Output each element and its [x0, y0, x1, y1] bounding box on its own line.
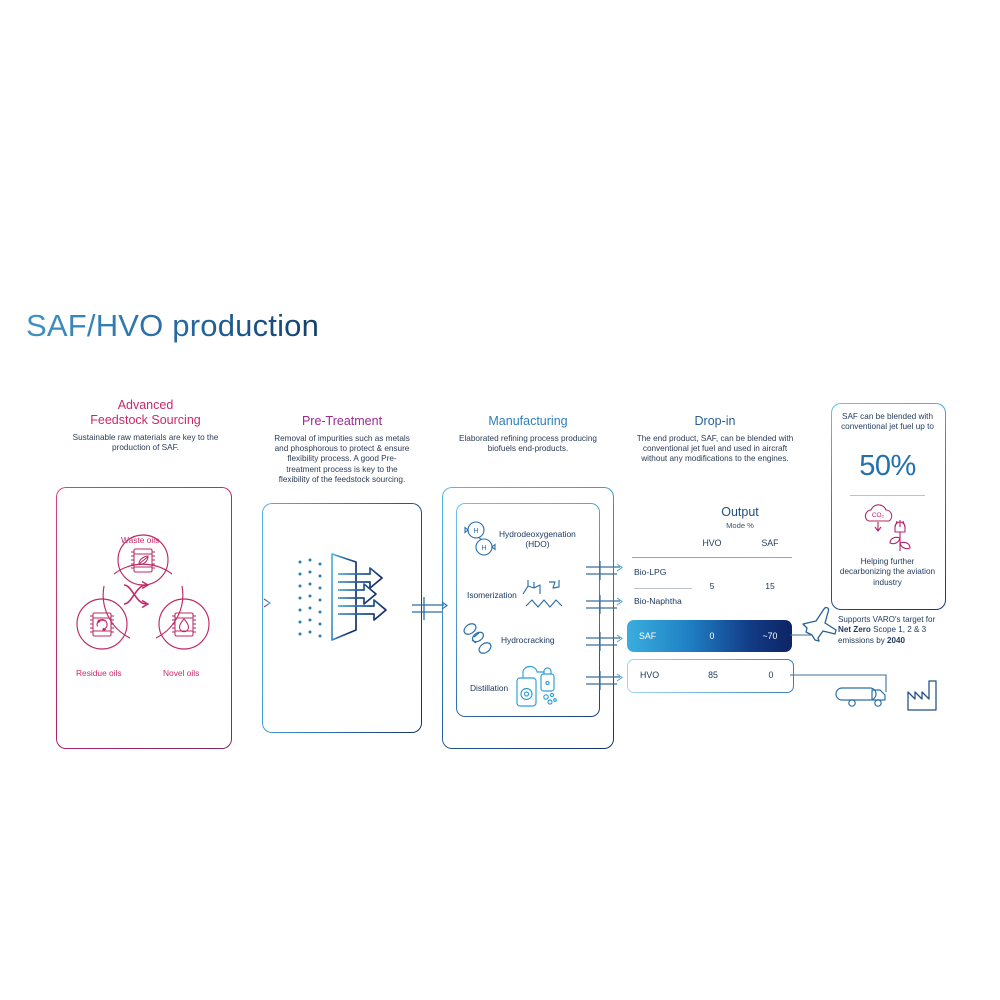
stage-heading-line1: Pre-Treatment	[272, 414, 412, 429]
feedstock-node-label-novel: Novel oils	[163, 668, 199, 678]
hydrogen-molecule-icon: H H	[464, 520, 494, 558]
manufacturing-step-label-line2: (HDO)	[499, 539, 576, 549]
info-panel-top-text: SAF can be blended with conventional jet…	[838, 412, 937, 433]
airplane-icon	[800, 605, 840, 643]
connector-pretreatment-to-manufacturing	[412, 596, 452, 622]
co2-cloud-flower-icon: CO₂	[861, 505, 917, 555]
page-title: SAF/HVO production	[26, 308, 319, 344]
stage-heading-line1: Drop-in	[632, 414, 798, 429]
crossing-arrows-icon	[124, 582, 148, 608]
output-value-saf-hvo: 0	[690, 631, 734, 641]
oil-barrel-recycle-icon	[90, 613, 114, 636]
stage-heading-line1: Advanced	[67, 398, 224, 413]
output-value-hvo-saf: 0	[749, 670, 793, 680]
varo-note-part1: Supports VARO's target for	[838, 615, 935, 624]
output-row-saf: SAF 0 ~70	[627, 620, 792, 652]
manufacturing-step-distillation: Distillation	[470, 666, 563, 710]
tanker-truck-icon	[840, 682, 892, 712]
output-value-bio-hvo: 5	[690, 581, 734, 591]
stage-body: Sustainable raw materials are key to the…	[67, 433, 224, 453]
feedstock-node-label-residue: Residue oils	[76, 668, 122, 678]
stage-header-manufacturing: Manufacturing Elaborated refining proces…	[452, 414, 604, 454]
connector-feedstock-to-pretreatment	[206, 592, 276, 626]
broken-chain-icon	[462, 622, 496, 658]
svg-text:H: H	[481, 545, 486, 552]
feedstock-cycle-diagram	[72, 530, 217, 665]
output-row-name-hvo: HVO	[640, 670, 659, 680]
manufacturing-step-isomerization: Isomerization	[467, 578, 566, 612]
stage-heading-line2: Feedstock Sourcing	[67, 413, 224, 428]
output-row-name-bio-lpg: Bio-LPG	[634, 567, 666, 577]
stage-body: Removal of impurities such as metals and…	[272, 434, 412, 485]
manufacturing-step-label-line1: Hydrodeoxygenation	[499, 529, 576, 539]
output-value-hvo-hvo: 85	[691, 670, 735, 680]
oil-barrel-droplet-icon	[172, 613, 196, 636]
feedstock-node-label-waste: Waste oils	[121, 535, 159, 545]
output-column-header-hvo: HVO	[690, 538, 734, 548]
oil-barrel-leaf-icon	[131, 549, 155, 572]
output-column-header-saf: SAF	[748, 538, 792, 548]
svg-text:H: H	[473, 528, 478, 535]
manufacturing-step-hydrocracking: Hydrocracking	[462, 622, 555, 658]
info-panel-divider	[850, 495, 925, 496]
infographic-root: SAF/HVO production Advanced Feedstock So…	[0, 0, 1000, 1000]
output-table-header-rule	[632, 557, 792, 558]
manufacturing-step-label-line1: Distillation	[470, 683, 508, 693]
info-panel-bottom-text: Helping further decarbonizing the aviati…	[836, 557, 939, 588]
branched-chain-icon	[522, 578, 566, 612]
stage-header-pretreatment: Pre-Treatment Removal of impurities such…	[272, 414, 412, 485]
stage-header-dropin: Drop-in The end product, SAF, can be ble…	[632, 414, 798, 465]
varo-note: Supports VARO's target for Net Zero Scop…	[838, 615, 938, 646]
output-row-name-saf: SAF	[639, 631, 656, 641]
stage-body: The end product, SAF, can be blended wit…	[632, 434, 798, 465]
manufacturing-step-label-line1: Hydrocracking	[501, 635, 555, 645]
stage-header-feedstock: Advanced Feedstock Sourcing Sustainable …	[67, 398, 224, 453]
output-row-hvo: HVO 85 0	[627, 659, 794, 693]
manufacturing-step-hdo: H H Hydrodeoxygenation (HDO)	[464, 520, 576, 558]
info-panel-big-number: 50%	[838, 450, 937, 483]
output-table-subtitle: Mode %	[700, 521, 780, 530]
output-value-saf-saf: ~70	[748, 631, 792, 641]
funnel-filter-arrows-icon	[296, 548, 400, 648]
output-table-title: Output	[700, 505, 780, 519]
manufacturing-step-label-line1: Isomerization	[467, 590, 517, 600]
svg-text:CO₂: CO₂	[872, 512, 885, 519]
varo-note-bold1: Net Zero	[838, 625, 871, 634]
output-value-bio-saf: 15	[748, 581, 792, 591]
stage-body: Elaborated refining process producing bi…	[452, 434, 604, 454]
distillation-vessel-icon	[513, 666, 563, 710]
output-group-rule	[634, 588, 692, 589]
factory-icon	[906, 678, 948, 714]
stage-heading-line1: Manufacturing	[452, 414, 604, 429]
varo-note-bold2: 2040	[887, 636, 905, 645]
output-row-name-bio-naphtha: Bio-Naphtha	[634, 596, 682, 606]
